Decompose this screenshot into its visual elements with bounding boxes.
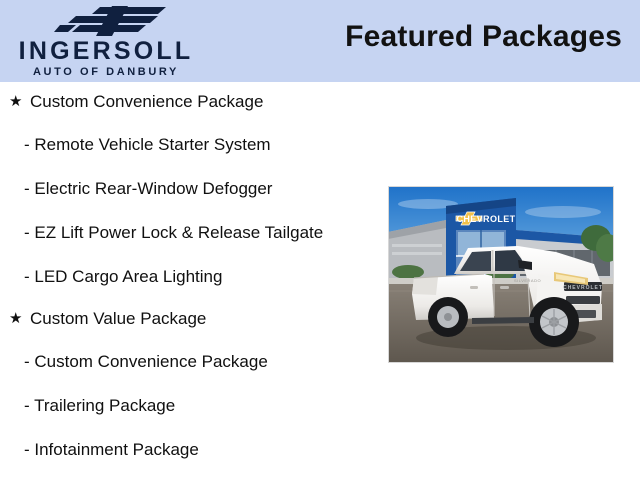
package-feature: - Trailering Package	[0, 395, 350, 416]
brand-wordmark: INGERSOLL	[6, 38, 206, 64]
package-feature: - Infotainment Package	[0, 439, 350, 460]
star-icon: ★	[9, 308, 22, 330]
package-feature: - Electric Rear-Window Defogger	[0, 178, 350, 199]
header-band: INGERSOLL AUTO OF DANBURY Featured Packa…	[0, 0, 640, 82]
package-list: ★ Custom Convenience Package - Remote Ve…	[0, 82, 350, 480]
svg-text:CHEVROLET: CHEVROLET	[456, 214, 515, 224]
brand-tagline: AUTO OF DANBURY	[6, 66, 206, 78]
package-heading: ★ Custom Value Package	[0, 308, 350, 330]
vehicle-photo: CHEVROLET	[388, 186, 614, 363]
package-feature: - Custom Convenience Package	[0, 351, 350, 372]
svg-text:SILVERADO: SILVERADO	[514, 278, 541, 283]
package-feature: - EZ Lift Power Lock & Release Tailgate	[0, 222, 350, 243]
package-heading: ★ Custom Convenience Package	[0, 91, 350, 113]
package-feature: - LED Cargo Area Lighting	[0, 266, 350, 287]
winged-emblem-icon	[54, 6, 174, 36]
star-icon: ★	[9, 91, 22, 113]
package-group: ★ Custom Convenience Package - Remote Ve…	[0, 91, 350, 287]
brand-logo: INGERSOLL AUTO OF DANBURY	[6, 4, 206, 80]
svg-text:CHEVROLET: CHEVROLET	[563, 285, 603, 291]
package-group: ★ Custom Value Package - Custom Convenie…	[0, 308, 350, 460]
package-heading-label: Custom Value Package	[30, 309, 206, 328]
page-title: Featured Packages	[345, 20, 622, 54]
package-feature: - Remote Vehicle Starter System	[0, 134, 350, 155]
package-heading-label: Custom Convenience Package	[30, 92, 263, 111]
